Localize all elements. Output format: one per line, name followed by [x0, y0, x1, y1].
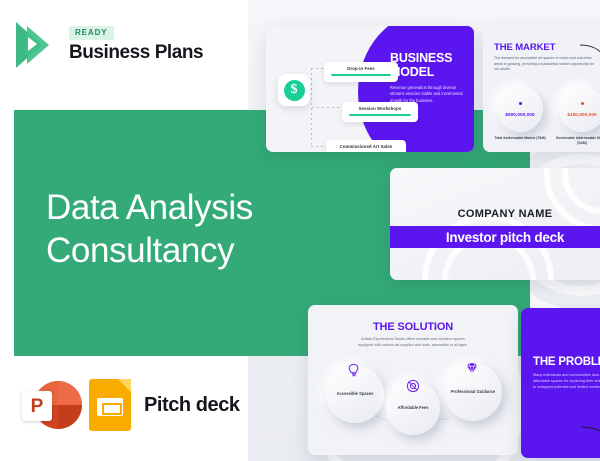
- target-circle-icon: [406, 379, 420, 393]
- solution-pillar-label: Affordable Fees: [390, 405, 436, 411]
- slide-the-solution[interactable]: THE SOLUTION Artistic Expressions Studio…: [308, 305, 518, 455]
- brand-name: Business Plans: [69, 42, 203, 64]
- dollar-circle-icon: $: [284, 80, 305, 101]
- page-title-line-2: Consultancy: [46, 229, 346, 272]
- page-title-line-1: Data Analysis: [46, 186, 346, 229]
- market-metric-value: $150,000,000: [567, 112, 596, 117]
- chip-underline: [331, 74, 391, 76]
- revenue-stream-chip[interactable]: Session Workshops: [342, 102, 418, 122]
- solution-title: THE SOLUTION: [308, 321, 518, 333]
- powerpoint-quadrant: [58, 381, 82, 405]
- cover-subtitle: Investor pitch deck: [446, 230, 564, 245]
- solution-pillar-label: Professional Guidance: [450, 389, 496, 395]
- problem-title: THE PROBLEM: [533, 356, 600, 368]
- business-model-title: BUSINESS MODEL: [390, 52, 466, 79]
- ready-badge: READY: [69, 26, 114, 40]
- market-metric-circle: $150,000,000: [559, 86, 600, 132]
- slide-the-problem[interactable]: THE PROBLEM Many individuals and communi…: [521, 308, 600, 458]
- brand-logo[interactable]: READY Business Plans: [16, 22, 203, 68]
- curved-arrow-icon: [579, 43, 600, 61]
- solution-description: Artistic Expressions Studio offers versa…: [358, 337, 468, 348]
- brand-text: READY Business Plans: [69, 26, 203, 64]
- revenue-stream-chip[interactable]: Drop-in Fees: [324, 62, 398, 82]
- chip-underline: [349, 114, 411, 116]
- problem-description: Many individuals and communities lack ac…: [533, 372, 600, 390]
- slides-corner-fold: [118, 379, 131, 392]
- diamond-gem-icon: [465, 361, 479, 375]
- market-metric-caption: Total Addressable Market (TAM): [492, 136, 548, 141]
- slide-cover[interactable]: COMPANY NAME Investor pitch deck: [390, 168, 600, 280]
- powerpoint-letter: P: [31, 397, 44, 416]
- bullet-dot-icon: [519, 102, 522, 105]
- page-title: Data Analysis Consultancy: [46, 186, 346, 272]
- powerpoint-quadrant: [58, 405, 82, 429]
- dollar-icon-tile: $: [278, 74, 310, 106]
- solution-pillar-label: Accessible Spaces: [332, 391, 378, 397]
- format-label: Pitch deck: [144, 394, 240, 417]
- market-metric-caption: Serviceable Addressable Market (SAM): [554, 136, 600, 145]
- slide-the-market[interactable]: THE MARKET The demand for accessible art…: [483, 26, 600, 152]
- powerpoint-icon: P: [22, 378, 76, 432]
- revenue-stream-label: Session Workshops: [349, 106, 411, 111]
- cover-subtitle-bar: Investor pitch deck: [390, 226, 600, 248]
- revenue-stream-chip[interactable]: Commissioned Art Sales: [326, 140, 406, 152]
- poster-stage: $ Drop-in Fees Session Workshops Commiss…: [0, 0, 600, 461]
- lightbulb-icon: [347, 363, 361, 377]
- curved-arrow-icon: [579, 424, 600, 446]
- bullet-dot-icon: [581, 102, 584, 105]
- revenue-stream-label: Drop-in Fees: [331, 66, 391, 71]
- powerpoint-letter-tile: P: [22, 391, 52, 421]
- google-slides-icon: [89, 379, 131, 431]
- play-triangle-icon: [16, 22, 60, 68]
- slides-screen-inner: [102, 403, 122, 415]
- connector-line: [311, 68, 325, 69]
- market-title: THE MARKET: [494, 42, 555, 53]
- cover-company-name: COMPANY NAME: [390, 208, 600, 220]
- revenue-stream-label: Commissioned Art Sales: [333, 144, 399, 149]
- business-model-text-block: BUSINESS MODEL Revenue generation throug…: [390, 52, 466, 104]
- connector-line: [312, 107, 342, 108]
- business-model-description: Revenue generation through diverse strea…: [390, 85, 466, 104]
- market-metric-value: $500,000,000: [505, 112, 534, 117]
- logo-triangle-notch: [28, 37, 37, 51]
- market-metric-circle: $500,000,000: [497, 86, 543, 132]
- connector-line: [311, 146, 327, 147]
- format-icons-row: P Pitch deck: [22, 378, 240, 432]
- slide-business-model[interactable]: $ Drop-in Fees Session Workshops Commiss…: [266, 26, 474, 152]
